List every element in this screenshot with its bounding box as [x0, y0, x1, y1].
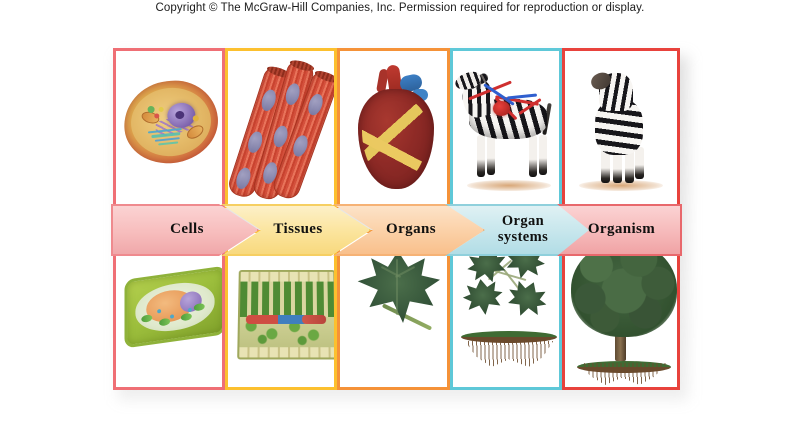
- organelle-dot: [188, 307, 192, 312]
- heart-icon: [354, 63, 438, 195]
- zebra-organism-panel[interactable]: [562, 48, 680, 208]
- heart-marker-icon: [493, 101, 510, 116]
- zebra-circulatory-panel[interactable]: [450, 48, 562, 208]
- plant-cell-illustration: [116, 233, 222, 387]
- tree-illustration: [565, 233, 677, 387]
- copyright-notice: Copyright © The McGraw-Hill Companies, I…: [0, 2, 800, 14]
- vein-line: [507, 93, 537, 99]
- fiber-nucleus: [283, 82, 302, 107]
- animal-cell-illustration: [116, 51, 222, 205]
- root-hairs: [465, 341, 553, 367]
- lower-epidermis-layer: [239, 347, 335, 357]
- vascular-bundle-shape: [302, 315, 326, 324]
- muscle-fiber-group: [228, 51, 334, 205]
- vascular-bundle-shape: [246, 315, 308, 324]
- biological-organization-figure: Cells Tissues Organs Organsystems Organi…: [113, 48, 680, 390]
- tree-icon: [565, 233, 677, 387]
- level-arrow-band: Cells Tissues Organs Organsystems Organi…: [111, 204, 682, 256]
- level-label-cells: Cells: [166, 222, 204, 237]
- leaf-midrib: [396, 259, 398, 315]
- branch-leaf: [502, 275, 553, 323]
- palisade-mesophyll-layer: [240, 282, 334, 317]
- root-hairs: [581, 363, 667, 385]
- branch-leaf: [461, 276, 506, 317]
- fiber-end-cap: [289, 58, 315, 73]
- chloroplast-shape: [142, 314, 153, 323]
- zebra-front-view-icon: [565, 51, 677, 205]
- zebra-leg: [635, 147, 644, 179]
- level-label-organ-systems-line1: Organ: [498, 214, 548, 230]
- fiber-end-cap: [314, 69, 337, 85]
- muscle-tissue-panel[interactable]: [225, 48, 337, 208]
- cytoplasm-shape: [128, 84, 215, 160]
- leaf-tissue-cross-section-illustration: [228, 233, 334, 387]
- upper-epidermis-layer: [241, 272, 334, 282]
- ground-shadow: [467, 180, 551, 191]
- organelle-dot: [193, 115, 200, 122]
- golgi-apparatus-shape: [148, 128, 184, 149]
- chloroplast-shape: [159, 318, 170, 327]
- animal-cell-membrane-icon: [120, 76, 222, 167]
- human-heart-illustration: [340, 51, 447, 205]
- heart-organ-panel[interactable]: [337, 48, 450, 208]
- leaf-icon: [346, 247, 450, 367]
- animal-cell-panel[interactable]: [113, 48, 225, 208]
- chloroplast-shape: [181, 313, 192, 322]
- zebra-circulatory-system-illustration: [453, 51, 559, 205]
- organelle-dot: [158, 106, 163, 111]
- fiber-nucleus: [306, 92, 326, 117]
- chloroplast-shape: [194, 303, 205, 312]
- branch-and-root-system-illustration: [453, 233, 559, 387]
- level-label-organism: Organism: [584, 222, 655, 237]
- leaf-cross-section-block: [237, 270, 337, 360]
- level-label-organs: Organs: [382, 222, 436, 237]
- plant-cytoplasm-shape: [135, 278, 214, 336]
- level-label-tissues: Tissues: [269, 222, 322, 237]
- nucleolus-shape: [175, 110, 185, 119]
- fiber-nucleus: [234, 166, 253, 191]
- circulatory-overlay: [461, 81, 561, 143]
- leaf-illustration: [340, 233, 447, 387]
- cardiac-muscle-tissue-illustration: [228, 51, 334, 205]
- zebra-side-view-icon: [453, 51, 559, 205]
- level-label-organ-systems: Organsystems: [494, 214, 548, 245]
- fiber-nucleus: [291, 133, 311, 158]
- level-label-organ-systems-line2: systems: [498, 230, 548, 246]
- zebra-illustration: [565, 51, 677, 205]
- fiber-nucleus: [246, 130, 265, 155]
- plant-cell-wall-icon: [124, 266, 225, 349]
- zebra-leg: [613, 151, 622, 183]
- root-system-icon: [461, 331, 557, 369]
